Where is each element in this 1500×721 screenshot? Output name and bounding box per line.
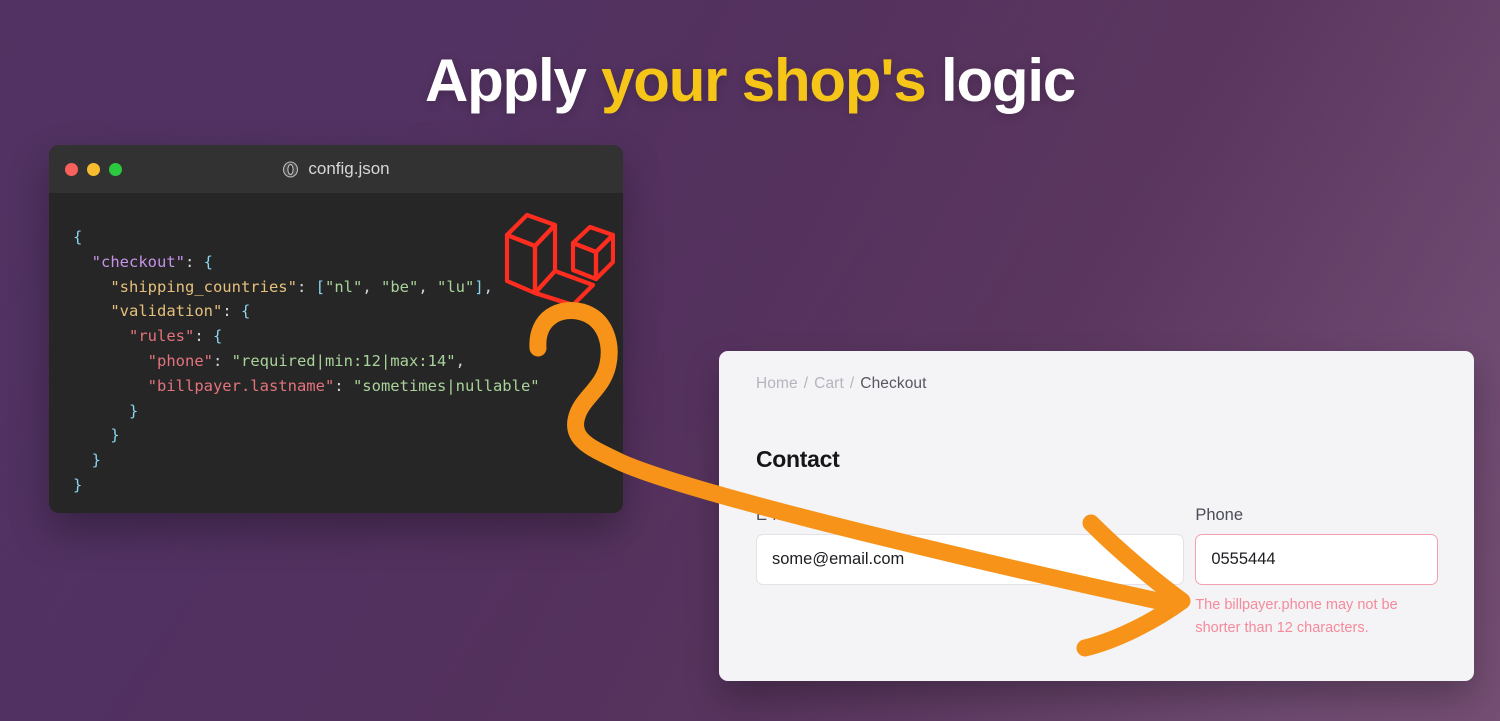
breadcrumb: Home / Cart / Checkout (756, 375, 1438, 393)
code-editor-window[interactable]: config.json { (49, 145, 623, 513)
page-title: Apply your shop's logic (0, 46, 1500, 115)
headline-accent: your shop's (601, 47, 925, 114)
phone-label: Phone (1195, 506, 1438, 525)
breadcrumb-item-checkout: Checkout (860, 375, 926, 393)
code-content[interactable]: { "checkout": { "shipping_countries": ["… (49, 217, 623, 498)
close-button[interactable] (65, 163, 78, 176)
poster-canvas: Apply your shop's logic config.json (0, 0, 1500, 721)
email-field-group: E-mail some@email.com (756, 506, 1184, 640)
window-title: config.json (49, 159, 623, 179)
contact-form-row: E-mail some@email.com Phone 0555444 The … (756, 506, 1438, 640)
json-file-icon (282, 161, 299, 178)
phone-error-message: The billpayer.phone may not be shorter t… (1195, 594, 1435, 640)
window-traffic-lights (65, 163, 122, 176)
breadcrumb-item-home[interactable]: Home (756, 375, 798, 393)
checkout-card: Home / Cart / Checkout Contact E-mail so… (719, 351, 1474, 681)
phone-input[interactable]: 0555444 (1195, 534, 1438, 585)
breadcrumb-separator: / (850, 375, 854, 393)
window-title-text: config.json (308, 159, 389, 179)
headline-part-2: logic (926, 47, 1075, 114)
breadcrumb-item-cart[interactable]: Cart (814, 375, 844, 393)
minimize-button[interactable] (87, 163, 100, 176)
maximize-button[interactable] (109, 163, 122, 176)
code-window-titlebar[interactable]: config.json (49, 145, 623, 193)
breadcrumb-separator: / (804, 375, 808, 393)
section-title-contact: Contact (756, 446, 1438, 473)
email-input[interactable]: some@email.com (756, 534, 1184, 585)
email-label: E-mail (756, 506, 1184, 525)
phone-field-group: Phone 0555444 The billpayer.phone may no… (1195, 506, 1438, 640)
headline-part-1: Apply (425, 47, 601, 114)
code-body: { "checkout": { "shipping_countries": ["… (49, 193, 623, 513)
